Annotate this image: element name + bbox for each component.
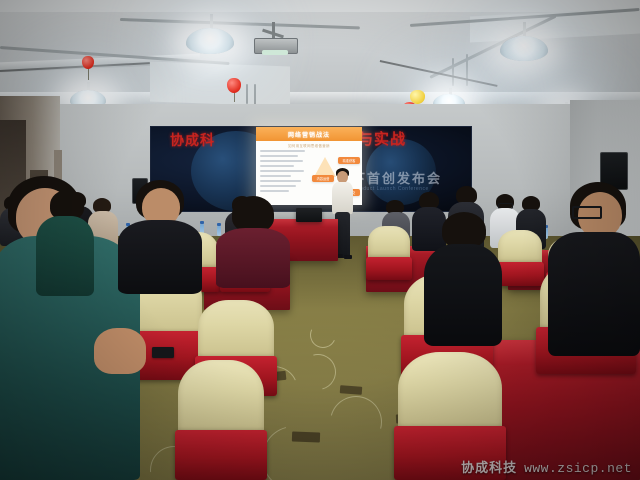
slide-callout-2-label: 内容运营 <box>317 176 330 181</box>
backdrop-title-right: 与实战 <box>358 128 406 149</box>
ceiling-hanger-c <box>246 84 248 104</box>
ceiling-hanger-d <box>254 84 256 106</box>
conference-room-photo: 协成科 与实战 下首创发布会 Product Launch Conference… <box>0 0 640 480</box>
audience-member-foreground-right <box>548 182 640 354</box>
chair-mid-4 <box>368 226 410 280</box>
watermark: 协成科技 www.zsicp.net <box>461 457 632 476</box>
slide-header-banner: 网络营销战法 <box>256 127 362 141</box>
audience-member-right-dark <box>424 212 502 342</box>
watermark-chinese: 协成科技 <box>461 457 517 476</box>
slide-callout-1-label: 精准获客 <box>343 158 356 163</box>
slide-body-text <box>260 150 309 195</box>
chair-foreground-left <box>178 360 264 480</box>
slide-header-title: 网络营销战法 <box>288 130 330 139</box>
slide-callout-1: 精准获客 <box>338 157 360 164</box>
dome-light-right <box>500 36 548 61</box>
phone-on-chair <box>152 347 174 358</box>
decor-wire-right <box>380 60 498 86</box>
audience-member-maroon <box>216 196 290 284</box>
ceiling-rail-center <box>120 18 360 29</box>
backdrop-lower-title: 下首创发布会 <box>352 168 442 187</box>
audience-member-left-green <box>36 190 94 294</box>
watermark-url: www.zsicp.net <box>524 461 632 476</box>
slide-subtitle: 如何用互联网思维做营销 <box>256 143 362 148</box>
audience-member-center-dark <box>118 180 202 290</box>
projector-lens <box>262 50 288 55</box>
glasses-icon-right <box>572 206 602 219</box>
dome-light-center <box>186 28 234 54</box>
ceiling-hanger-a <box>452 58 454 86</box>
presenter-laptop <box>296 208 322 222</box>
ceiling-hanger-b <box>466 54 468 86</box>
chair-mid-5 <box>498 230 542 286</box>
backdrop-title-left: 协成科 <box>170 130 215 150</box>
